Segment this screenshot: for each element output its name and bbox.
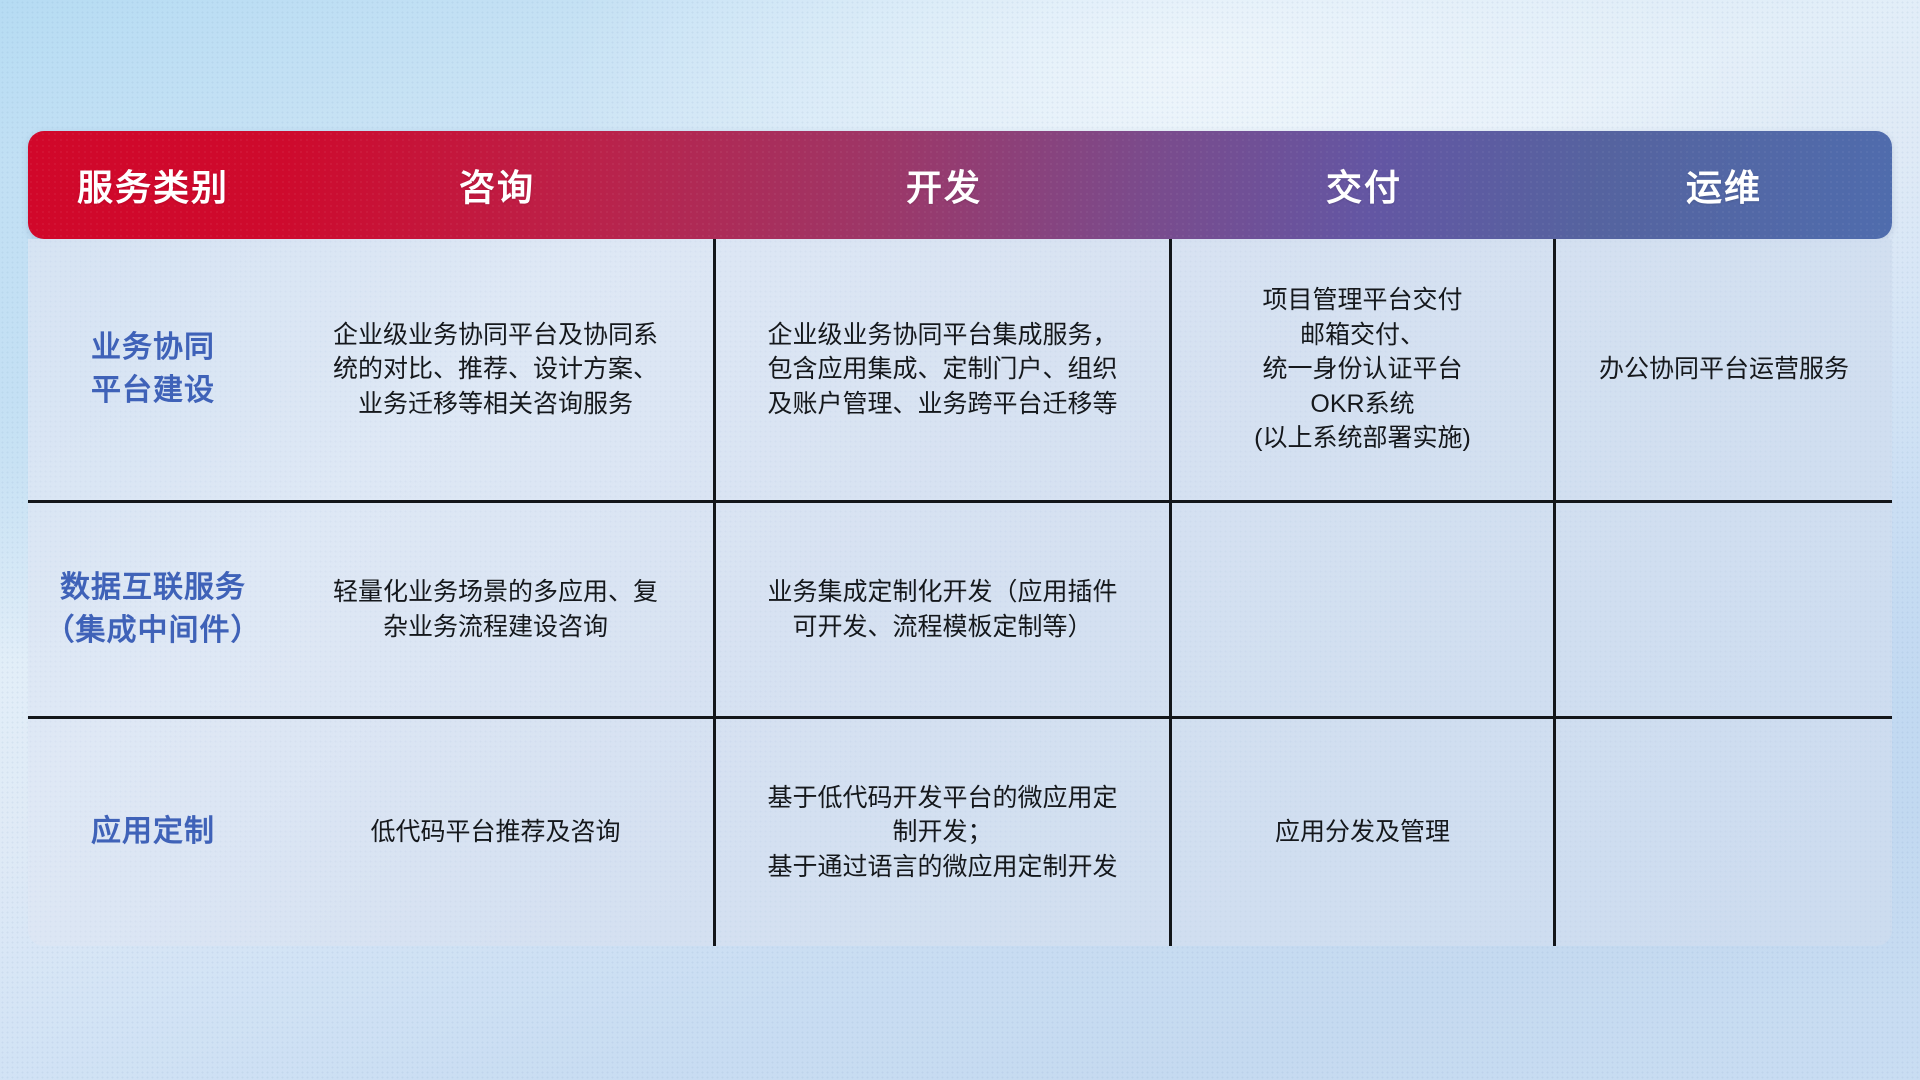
row-category-label: 业务协同 平台建设 xyxy=(28,239,278,500)
row-category-label: 应用定制 xyxy=(28,719,278,946)
row-category-label: 数据互联服务 （集成中间件） xyxy=(28,503,278,716)
column-header-delivery: 交付 xyxy=(1172,131,1556,239)
cell-consulting: 企业级业务协同平台及协同系 统的对比、推荐、设计方案、 业务迁移等相关咨询服务 xyxy=(278,239,716,500)
table-row: 业务协同 平台建设 企业级业务协同平台及协同系 统的对比、推荐、设计方案、 业务… xyxy=(28,239,1892,503)
cell-consulting: 轻量化业务场景的多应用、复 杂业务流程建设咨询 xyxy=(278,503,716,716)
cell-development: 企业级业务协同平台集成服务， 包含应用集成、定制门户、组织 及账户管理、业务跨平… xyxy=(716,239,1172,500)
column-header-development: 开发 xyxy=(716,131,1172,239)
table-header-row: 服务类别 咨询 开发 交付 运维 xyxy=(28,131,1892,239)
cell-operations: 办公协同平台运营服务 xyxy=(1556,239,1892,500)
cell-development: 业务集成定制化开发（应用插件 可开发、流程模板定制等） xyxy=(716,503,1172,716)
cell-consulting: 低代码平台推荐及咨询 xyxy=(278,719,716,946)
column-header-category: 服务类别 xyxy=(28,131,278,239)
table-row: 数据互联服务 （集成中间件） 轻量化业务场景的多应用、复 杂业务流程建设咨询 业… xyxy=(28,503,1892,719)
cell-operations xyxy=(1556,503,1892,716)
column-header-operations: 运维 xyxy=(1556,131,1892,239)
cell-development: 基于低代码开发平台的微应用定 制开发； 基于通过语言的微应用定制开发 xyxy=(716,719,1172,946)
cell-operations xyxy=(1556,719,1892,946)
cell-delivery: 项目管理平台交付 邮箱交付、 统一身份认证平台 OKR系统 (以上系统部署实施) xyxy=(1172,239,1556,500)
table-body: 业务协同 平台建设 企业级业务协同平台及协同系 统的对比、推荐、设计方案、 业务… xyxy=(28,239,1892,946)
service-matrix-table: 服务类别 咨询 开发 交付 运维 业务协同 平台建设 企业级业务协同平台及协同系… xyxy=(28,131,1892,946)
table-row: 应用定制 低代码平台推荐及咨询 基于低代码开发平台的微应用定 制开发； 基于通过… xyxy=(28,719,1892,946)
column-header-consulting: 咨询 xyxy=(278,131,716,239)
cell-delivery: 应用分发及管理 xyxy=(1172,719,1556,946)
cell-delivery xyxy=(1172,503,1556,716)
